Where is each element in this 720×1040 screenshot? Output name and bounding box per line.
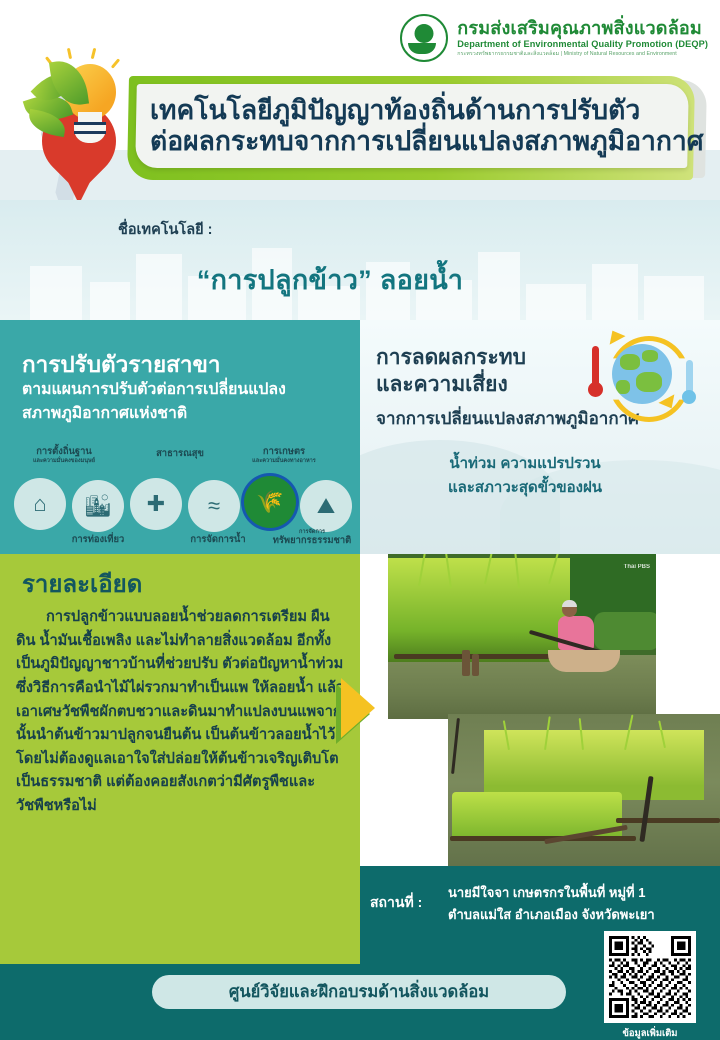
- adaptation-heading: การปรับตัวรายสาขา: [22, 346, 221, 382]
- settlement-icon: ⌂: [14, 478, 66, 530]
- deqp-logo: กรมส่งเสริมคุณภาพสิ่งแวดล้อม Department …: [400, 14, 708, 62]
- risk-text: น้ำท่วม ความแปรปรวน และสภาวะสุดขั้วของฝน: [360, 452, 690, 501]
- page-title-line1: เทคโนโลยีภูมิปัญญาท้องถิ่นด้านการปรับตัว: [150, 96, 688, 126]
- page-title-line2: ต่อผลกระทบจากการเปลี่ยนแปลงสภาพภูมิอากาศ: [150, 127, 688, 157]
- mitigation-panel: การลดผลกระทบ และความเสี่ยง จากการเปลี่ยน…: [360, 320, 720, 554]
- center-name-pill: ศูนย์วิจัยและฝึกอบรมด้านสิ่งแวดล้อม: [152, 975, 566, 1009]
- qr-code-image: [609, 936, 691, 1018]
- place-value: นายมีใจจา เกษตรกรในพื้นที่ หมู่ที่ 1 ตำบ…: [448, 882, 714, 926]
- mitigation-heading-line2: และความเสี่ยง: [376, 373, 508, 396]
- org-name-th: กรมส่งเสริมคุณภาพสิ่งแวดล้อม: [457, 18, 708, 38]
- qr-code[interactable]: [604, 931, 696, 1023]
- sector-label-natural-resources: การจัดการ ทรัพยากรธรรมชาติ: [264, 528, 360, 546]
- adaptation-subheading: ตามแผนการปรับตัวต่อการเปลี่ยนแปลง สภาพภู…: [22, 378, 342, 425]
- thermometer-cold-bulb: [682, 390, 696, 404]
- mitigation-heading: การลดผลกระทบ และความเสี่ยง: [376, 344, 526, 399]
- sector-label-settlement: การตั้งถิ่นฐาน และความมั่นคงของมนุษย์: [8, 446, 120, 464]
- sector-label-tourism: การท่องเที่ยว: [46, 534, 150, 545]
- water-management-icon: ≈: [188, 480, 240, 532]
- thermometer-hot-bulb: [588, 382, 603, 397]
- sector-label-agriculture: การเกษตร และความมั่นคงทางอาหาร: [228, 446, 340, 464]
- risk-line2: และสภาวะสุดขั้วของฝน: [448, 479, 602, 496]
- sector-icon-public-health[interactable]: ✚: [130, 478, 182, 530]
- deqp-seal-icon: [400, 14, 448, 62]
- sector-icon-tourism[interactable]: 🏙: [72, 480, 124, 532]
- org-name-en: Department of Environmental Quality Prom…: [457, 39, 708, 49]
- place-line2: ตำบลแม่ใส อำเภอเมือง จังหวัดพะเยา: [448, 907, 655, 922]
- sector-icon-settlement[interactable]: ⌂: [14, 478, 66, 530]
- poster-header: กรมส่งเสริมคุณภาพสิ่งแวดล้อม Department …: [0, 0, 720, 210]
- ray-icon: [67, 48, 72, 59]
- details-panel: รายละเอียด การปลูกข้าวแบบลอยน้ำช่วยลดการ…: [0, 554, 360, 964]
- agriculture-icon: 🌾: [244, 476, 296, 528]
- thermometer-cold-icon: [686, 360, 693, 394]
- sector-label-public-health: สาธารณสุข: [128, 448, 232, 459]
- idea-pin-logo: [12, 46, 142, 210]
- tourism-icon: 🏙: [72, 480, 124, 532]
- photo-watermark: Thai PBS: [624, 564, 650, 570]
- farmer-floating-rice-photo: Thai PBS: [388, 554, 656, 719]
- sector-icon-natural-resources[interactable]: ⛰: [300, 480, 352, 532]
- thermometer-hot-icon: [592, 346, 599, 386]
- place-line1: นายมีใจจา เกษตรกรในพื้นที่ หมู่ที่ 1: [448, 885, 645, 900]
- sector-icon-water-management[interactable]: ≈: [188, 480, 240, 532]
- adaptation-subheading-line2: สภาพภูมิอากาศแห่งชาติ: [22, 405, 187, 422]
- technology-label: ชื่อเทคโนโลยี :: [118, 218, 213, 241]
- technology-name-band: ชื่อเทคโนโลยี : “การปลูกข้าว” ลอยน้ำ: [0, 200, 720, 320]
- risk-line1: น้ำท่วม ความแปรปรวน: [449, 455, 600, 472]
- mitigation-subheading: จากการเปลี่ยนแปลงสภาพภูมิอากาศ: [376, 405, 639, 432]
- details-body: การปลูกข้าวแบบลอยน้ำช่วยลดการเตรียม ผืนด…: [16, 606, 346, 819]
- public-health-icon: ✚: [130, 478, 182, 530]
- details-heading: รายละเอียด: [22, 564, 142, 603]
- sector-label-water-management: การจัดการน้ำ: [166, 534, 270, 545]
- qr-caption: ข้อมูลเพิ่มเติม: [604, 1026, 696, 1040]
- adaptation-subheading-line1: ตามแผนการปรับตัวต่อการเปลี่ยนแปลง: [22, 381, 286, 398]
- technology-name: “การปลูกข้าว” ลอยน้ำ: [0, 258, 660, 301]
- floating-rice-rafts-photo: [448, 714, 720, 866]
- ray-icon: [111, 58, 120, 68]
- ministry-line: กระทรวงทรัพยากรธรรมชาติและสิ่งแวดล้อม | …: [457, 52, 708, 58]
- mitigation-heading-line1: การลดผลกระทบ: [376, 346, 526, 369]
- natural-resources-icon: ⛰: [300, 480, 352, 532]
- center-name: ศูนย์วิจัยและฝึกอบรมด้านสิ่งแวดล้อม: [229, 979, 489, 1005]
- place-label: สถานที่ :: [370, 892, 422, 914]
- title-ribbon: เทคโนโลยีภูมิปัญญาท้องถิ่นด้านการปรับตัว…: [135, 84, 689, 168]
- globe-icon: [612, 344, 672, 404]
- sector-icon-agriculture[interactable]: 🌾: [244, 476, 296, 528]
- sector-icon-row: การตั้งถิ่นฐาน และความมั่นคงของมนุษย์ สา…: [0, 446, 360, 554]
- cycle-arrow-icon: [604, 326, 625, 344]
- ray-icon: [91, 48, 97, 59]
- poster-root: กรมส่งเสริมคุณภาพสิ่งแวดล้อม Department …: [0, 0, 720, 1040]
- pointer-arrow-icon: [341, 678, 375, 738]
